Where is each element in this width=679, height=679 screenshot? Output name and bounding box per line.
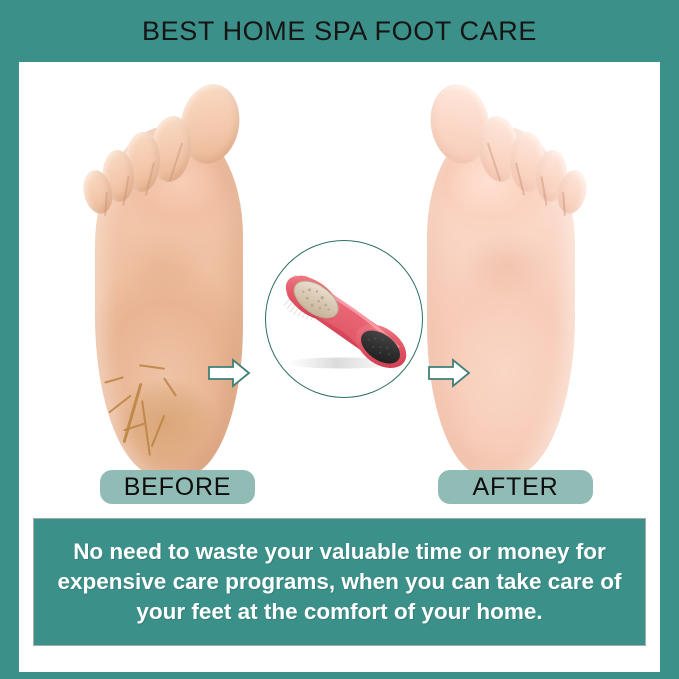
after-label-text: AFTER	[473, 475, 559, 500]
arrow-right-icon	[427, 358, 471, 388]
before-foot-arch-shading	[103, 220, 223, 310]
before-after-comparison: BEFORE AFTER	[19, 62, 660, 502]
page-title: BEST HOME SPA FOOT CARE	[142, 16, 537, 47]
message-box: No need to waste your valuable time or m…	[33, 518, 646, 646]
content-card: BEFORE AFTER No need to waste your valua…	[19, 62, 660, 672]
foot-file-pumice-brush-icon	[266, 241, 422, 397]
after-foot-arch-shading	[447, 220, 567, 310]
before-label-badge: BEFORE	[100, 470, 255, 504]
before-foot-image	[59, 70, 279, 500]
arrow-right-icon	[207, 358, 251, 388]
after-label-badge: AFTER	[438, 470, 593, 504]
title-bar: BEST HOME SPA FOOT CARE	[0, 0, 679, 62]
message-text: No need to waste your valuable time or m…	[34, 537, 645, 626]
after-foot-image	[391, 70, 611, 500]
before-label-text: BEFORE	[124, 475, 232, 500]
poster: BEST HOME SPA FOOT CARE	[0, 0, 679, 679]
foot-file-tool-circle	[265, 240, 423, 398]
